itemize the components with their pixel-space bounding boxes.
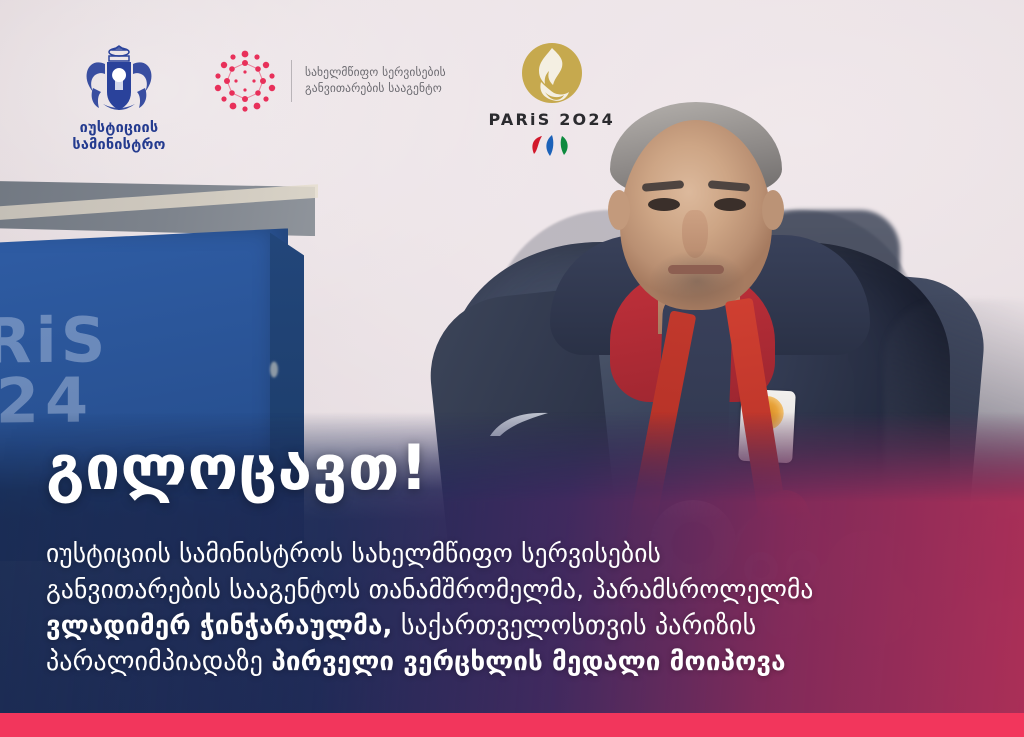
psda-logo: სახელმწიფო სერვისების განვითარების სააგე… [212, 48, 446, 114]
psda-logo-text: სახელმწიფო სერვისების განვითარების სააგე… [305, 65, 446, 96]
bottom-accent-bar [0, 713, 1024, 737]
medal-achievement: პირველი ვერცხლის მედალი მოიპოვა [271, 647, 785, 677]
body-line-2: განვითარების სააგენტოს თანამშრომელმა, პა… [46, 572, 984, 608]
paralympic-agitos-icon [526, 134, 578, 158]
athlete-name: ვლადიმერ ჭინჭარაულმა, [46, 611, 393, 641]
georgia-coat-of-arms-icon [73, 42, 165, 114]
paris2024-logo: PARiS 2O24 [482, 42, 622, 158]
body-line-4: პარალიმპიადაზე პირველი ვერცხლის მედალი მ… [46, 644, 984, 680]
ministry-logo-text-line2: სამინისტრო [44, 137, 194, 154]
podium-highlight [270, 362, 278, 378]
psda-divider [291, 60, 292, 102]
body-line-1: იუსტიციის სამინისტროს სახელმწიფო სერვისე… [46, 536, 984, 572]
body-text: იუსტიციის სამინისტროს სახელმწიფო სერვისე… [46, 536, 984, 680]
psda-logo-text-line2: განვითარების სააგენტო [305, 81, 446, 97]
psda-network-mark-icon [212, 48, 278, 114]
body-line-3-rest: საქართველოსთვის პარიზის [393, 611, 757, 641]
logo-row: იუსტიციის სამინისტრო [0, 0, 1024, 202]
headline: გილოცავთ! [46, 437, 429, 499]
paris2024-wordmark: PARiS 2O24 [482, 110, 622, 129]
body-line-3: ვლადიმერ ჭინჭარაულმა, საქართველოსთვის პა… [46, 608, 984, 644]
mouth [668, 265, 724, 274]
ministry-logo-text: იუსტიციის სამინისტრო [44, 120, 194, 153]
psda-logo-text-line1: სახელმწიფო სერვისების [305, 65, 446, 81]
ministry-logo-text-line1: იუსტიციის [44, 120, 194, 137]
body-line-4-rest: პარალიმპიადაზე [46, 647, 271, 677]
poster-root: PARiS 2O24 [0, 0, 1024, 737]
paris2024-flame-marianne-icon [521, 42, 583, 104]
ministry-of-justice-logo: იუსტიციის სამინისტრო [44, 42, 194, 153]
